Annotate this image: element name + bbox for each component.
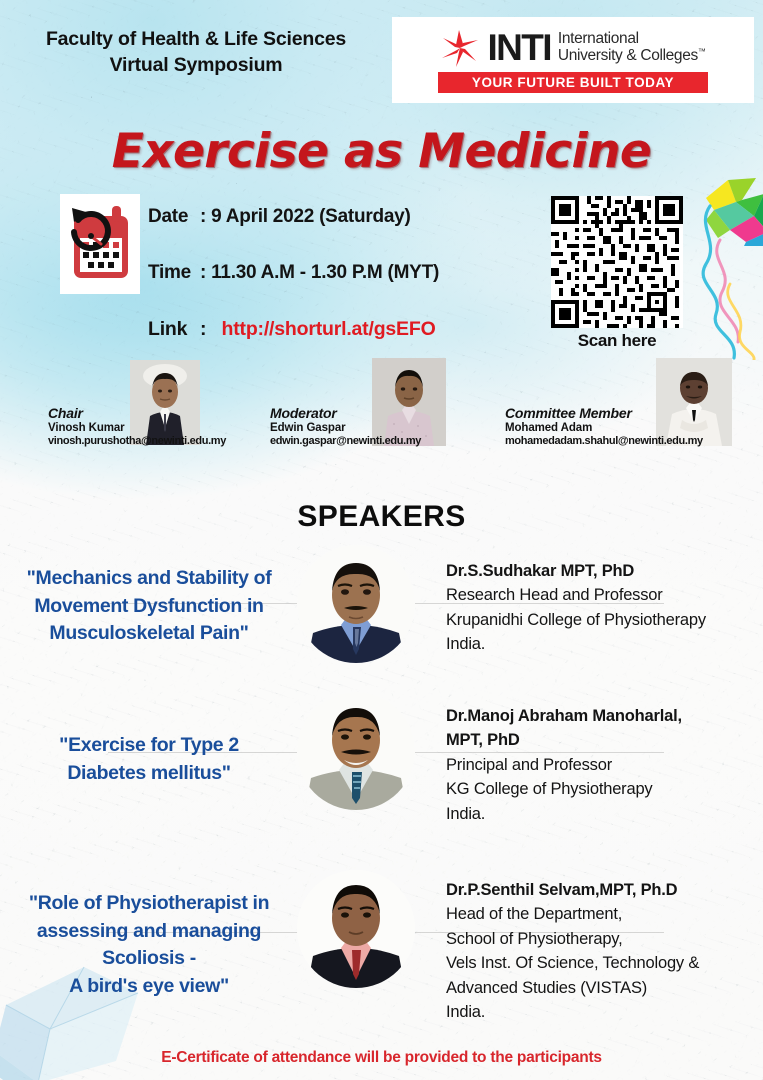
committee-name-moderator: Edwin Gaspar — [270, 422, 520, 434]
faculty-heading-line2: Virtual Symposium — [0, 52, 392, 78]
committee-email-member[interactable]: mohamedadam.shahul@newinti.edu.my — [505, 435, 763, 447]
qr-caption: Scan here — [544, 331, 690, 351]
calendar-clock-icon — [60, 194, 140, 294]
event-link-separator: : — [200, 318, 206, 340]
committee-text-moderator: Moderator Edwin Gaspar edwin.gaspar@newi… — [270, 405, 520, 447]
event-link-label: Link — [148, 318, 200, 341]
committee-email-chair[interactable]: vinosh.purushotha@newinti.edu.my — [48, 435, 278, 447]
inti-subtitle-line1: International — [558, 31, 706, 48]
speaker-1-topic-line3: Musculoskeletal Pain" — [4, 620, 294, 648]
event-time-line: Time: 11.30 A.M - 1.30 P.M (MYT) — [148, 262, 548, 284]
speaker-2-bio-line1: MPT, PhD — [446, 728, 762, 752]
speaker-photo-sudhakar — [297, 545, 415, 663]
event-info-block: Date: 9 April 2022 (Saturday) Time: 11.3… — [148, 206, 548, 341]
speaker-2-bio-line4: India. — [446, 802, 762, 826]
speaker-3-topic-line2: assessing and managing — [4, 918, 294, 946]
event-link-url[interactable]: http://shorturl.at/gsEFO — [222, 318, 436, 340]
speaker-row-3: "Role of Physiotherapist in assessing an… — [0, 870, 763, 1020]
speaker-3-bio-line3: Vels Inst. Of Science, Technology & — [446, 951, 762, 975]
speaker-3-name: Dr.P.Senthil Selvam,MPT, Ph.D — [446, 878, 762, 902]
inti-subtitle-line2-text: University & Colleges — [558, 47, 698, 64]
committee-role-member: Committee Member — [505, 405, 763, 421]
speaker-2-bio-line2: Principal and Professor — [446, 753, 762, 777]
inti-trademark: ™ — [698, 47, 706, 56]
speaker-3-bio: Dr.P.Senthil Selvam,MPT, Ph.D Head of th… — [446, 878, 762, 1024]
speaker-2-topic: "Exercise for Type 2 Diabetes mellitus" — [4, 732, 294, 787]
speaker-3-topic-line4: A bird's eye view" — [4, 973, 294, 1001]
inti-tagline: YOUR FUTURE BUILT TODAY — [438, 72, 708, 93]
poster-title: Exercise as Medicine — [0, 124, 763, 179]
speaker-row-2: "Exercise for Type 2 Diabetes mellitus" — [0, 692, 763, 832]
committee-role-moderator: Moderator — [270, 405, 520, 421]
inti-asterisk-icon — [440, 28, 480, 68]
event-time-separator: : — [200, 262, 206, 283]
confetti-ribbon-decoration — [690, 200, 763, 360]
committee-name-member: Mohamed Adam — [505, 422, 763, 434]
certificate-note: E-Certificate of attendance will be prov… — [0, 1049, 763, 1067]
inti-wordmark: INTI — [487, 30, 550, 65]
event-time-value: 11.30 A.M - 1.30 P.M (MYT) — [211, 262, 439, 283]
qr-section[interactable]: Scan here — [544, 196, 690, 351]
speaker-3-topic-line3: Scoliosis - — [4, 945, 294, 973]
speaker-2-topic-line1: "Exercise for Type 2 — [4, 732, 294, 760]
speaker-1-topic-line2: Movement Dysfunction in — [4, 593, 294, 621]
faculty-heading-line1: Faculty of Health & Life Sciences — [46, 28, 346, 50]
faculty-heading: Faculty of Health & Life Sciences Virtua… — [0, 26, 392, 78]
committee-text-member: Committee Member Mohamed Adam mohamedada… — [505, 405, 763, 447]
symposium-poster: Faculty of Health & Life Sciences Virtua… — [0, 0, 763, 1080]
inti-subtitle: International University & Colleges™ — [558, 31, 706, 65]
speaker-2-bio: Dr.Manoj Abraham Manoharlal, MPT, PhD Pr… — [446, 704, 762, 826]
speaker-1-bio-line1: Research Head and Professor — [446, 583, 762, 607]
speaker-3-bio-line5: India. — [446, 1000, 762, 1024]
event-date-line: Date: 9 April 2022 (Saturday) — [148, 206, 548, 228]
committee-member-chair: Chair Vinosh Kumar vinosh.purushotha@new… — [0, 355, 270, 470]
speaker-photo-manoj — [297, 692, 415, 810]
committee-member-moderator: Moderator Edwin Gaspar edwin.gaspar@newi… — [270, 355, 520, 470]
speaker-1-bio: Dr.S.Sudhakar MPT, PhD Research Head and… — [446, 559, 762, 657]
speaker-2-bio-line3: KG College of Physiotherapy — [446, 777, 762, 801]
committee-text-chair: Chair Vinosh Kumar vinosh.purushotha@new… — [48, 405, 278, 447]
qr-code-icon[interactable] — [544, 196, 690, 328]
speaker-1-bio-line3: India. — [446, 632, 762, 656]
speaker-3-topic-line1: "Role of Physiotherapist in — [4, 890, 294, 918]
speaker-row-1: "Mechanics and Stability of Movement Dys… — [0, 545, 763, 675]
committee-row: Chair Vinosh Kumar vinosh.purushotha@new… — [0, 355, 763, 470]
event-time-label: Time — [148, 262, 200, 284]
event-date-value: 9 April 2022 (Saturday) — [211, 206, 410, 227]
inti-subtitle-line2: University & Colleges™ — [558, 48, 706, 65]
committee-name-chair: Vinosh Kumar — [48, 422, 278, 434]
speaker-3-topic: "Role of Physiotherapist in assessing an… — [4, 890, 294, 1001]
speaker-1-name: Dr.S.Sudhakar MPT, PhD — [446, 559, 762, 583]
speaker-3-bio-line1: Head of the Department, — [446, 902, 762, 926]
speaker-1-bio-line2: Krupanidhi College of Physiotherapy — [446, 608, 762, 632]
inti-logo-top: INTI International University & Colleges… — [400, 28, 746, 68]
speaker-photo-senthil — [297, 870, 415, 988]
inti-logo: INTI International University & Colleges… — [392, 17, 754, 103]
committee-member-member: Committee Member Mohamed Adam mohamedada… — [500, 355, 763, 470]
event-date-separator: : — [200, 206, 206, 227]
speaker-2-topic-line2: Diabetes mellitus" — [4, 760, 294, 788]
speaker-2-name: Dr.Manoj Abraham Manoharlal, — [446, 704, 762, 728]
event-date-label: Date — [148, 206, 200, 228]
speaker-3-bio-line4: Advanced Studies (VISTAS) — [446, 976, 762, 1000]
speaker-1-topic: "Mechanics and Stability of Movement Dys… — [4, 565, 294, 648]
speakers-heading: SPEAKERS — [0, 500, 763, 534]
speaker-1-topic-line1: "Mechanics and Stability of — [4, 565, 294, 593]
event-link-line[interactable]: Link: http://shorturl.at/gsEFO — [148, 318, 548, 341]
committee-role-chair: Chair — [48, 405, 278, 421]
committee-email-moderator[interactable]: edwin.gaspar@newinti.edu.my — [270, 435, 520, 447]
speaker-3-bio-line2: School of Physiotherapy, — [446, 927, 762, 951]
